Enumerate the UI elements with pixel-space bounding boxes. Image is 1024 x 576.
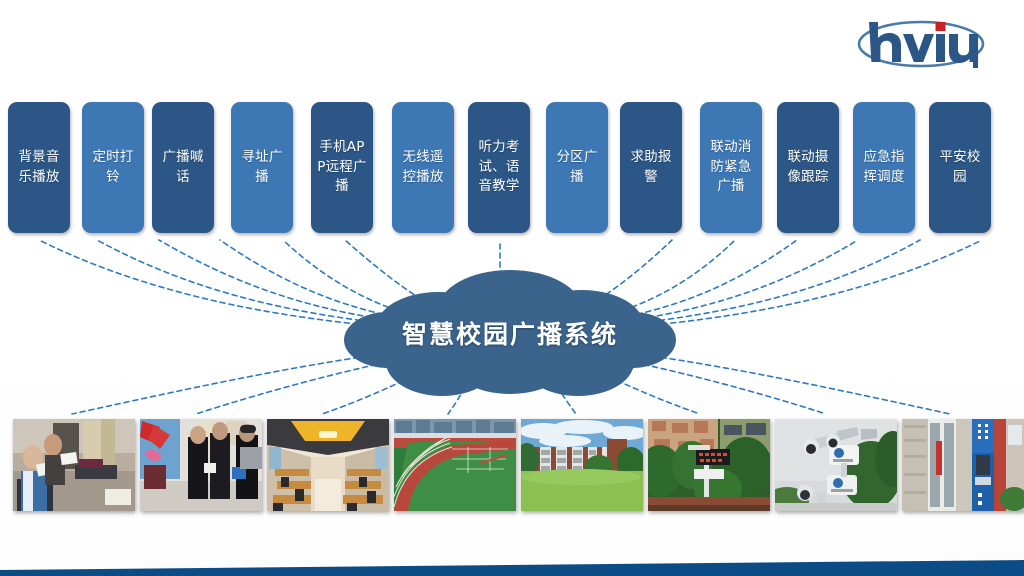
photo-track-field <box>394 419 516 511</box>
feature-card-zone-broadcast[interactable]: 分区广播 <box>546 102 608 233</box>
bottom-accent-bar <box>0 542 1024 576</box>
photo-teaching-building <box>521 419 643 511</box>
photo-image <box>267 419 389 511</box>
photo-image <box>394 419 516 511</box>
feature-card-wireless-remote[interactable]: 无线遥控播放 <box>392 102 454 233</box>
feature-card-timed-bell[interactable]: 定时打铃 <box>82 102 144 233</box>
center-cloud[interactable]: 智慧校园广播系统 <box>330 258 690 408</box>
photo-image <box>521 419 643 511</box>
photo-image <box>648 419 770 511</box>
photo-classroom-students <box>13 419 135 511</box>
photo-image <box>140 419 262 511</box>
feature-card-mobile-app[interactable]: 手机APP远程广播 <box>311 102 373 233</box>
photo-emergency-kiosk <box>902 419 1024 511</box>
feature-card-label: 应急指挥调度 <box>858 148 910 187</box>
feature-card-label: 手机APP远程广播 <box>316 138 368 197</box>
brand-logo: hviun <box>855 14 987 72</box>
feature-card-label: 听力考试、语音教学 <box>473 138 525 197</box>
feature-card-fire-emergency[interactable]: 联动消防紧急广播 <box>700 102 762 233</box>
photo-strip <box>0 419 1024 511</box>
photo-image <box>775 419 897 511</box>
feature-card-listening-exam[interactable]: 听力考试、语音教学 <box>468 102 530 233</box>
feature-card-address-paging[interactable]: 寻址广播 <box>231 102 293 233</box>
feature-card-label: 背景音乐播放 <box>13 148 65 187</box>
photo-led-display-pole <box>648 419 770 511</box>
photo-cafeteria <box>267 419 389 511</box>
feature-card-label: 无线遥控播放 <box>397 148 449 187</box>
feature-card-label: 求助报警 <box>625 148 677 187</box>
photo-equipment-inspection <box>140 419 262 511</box>
cloud-title: 智慧校园广播系统 <box>330 258 690 408</box>
feature-card-label: 平安校园 <box>934 148 986 187</box>
feature-card-row: 背景音乐播放 定时打铃 广播喊话 寻址广播 手机APP远程广播 无线遥控播放 听… <box>0 102 1024 234</box>
feature-card-label: 分区广播 <box>551 148 603 187</box>
feature-card-label: 广播喊话 <box>157 148 209 187</box>
feature-card-broadcast-shout[interactable]: 广播喊话 <box>152 102 214 233</box>
photo-image <box>13 419 135 511</box>
feature-card-emergency-command[interactable]: 应急指挥调度 <box>853 102 915 233</box>
feature-card-camera-tracking[interactable]: 联动摄像跟踪 <box>777 102 839 233</box>
feature-card-label: 联动摄像跟踪 <box>782 148 834 187</box>
feature-card-safe-campus[interactable]: 平安校园 <box>929 102 991 233</box>
feature-card-label: 寻址广播 <box>236 148 288 187</box>
feature-card-label: 定时打铃 <box>87 148 139 187</box>
logo-accent-dot <box>936 22 946 31</box>
hviun-logo-icon <box>855 14 987 72</box>
feature-card-help-alarm[interactable]: 求助报警 <box>620 102 682 233</box>
photo-camera-speaker-pole <box>775 419 897 511</box>
feature-card-label: 联动消防紧急广播 <box>705 138 757 197</box>
slide-canvas: hviun <box>0 0 1024 576</box>
feature-card-background-music[interactable]: 背景音乐播放 <box>8 102 70 233</box>
photo-image <box>902 419 1024 511</box>
